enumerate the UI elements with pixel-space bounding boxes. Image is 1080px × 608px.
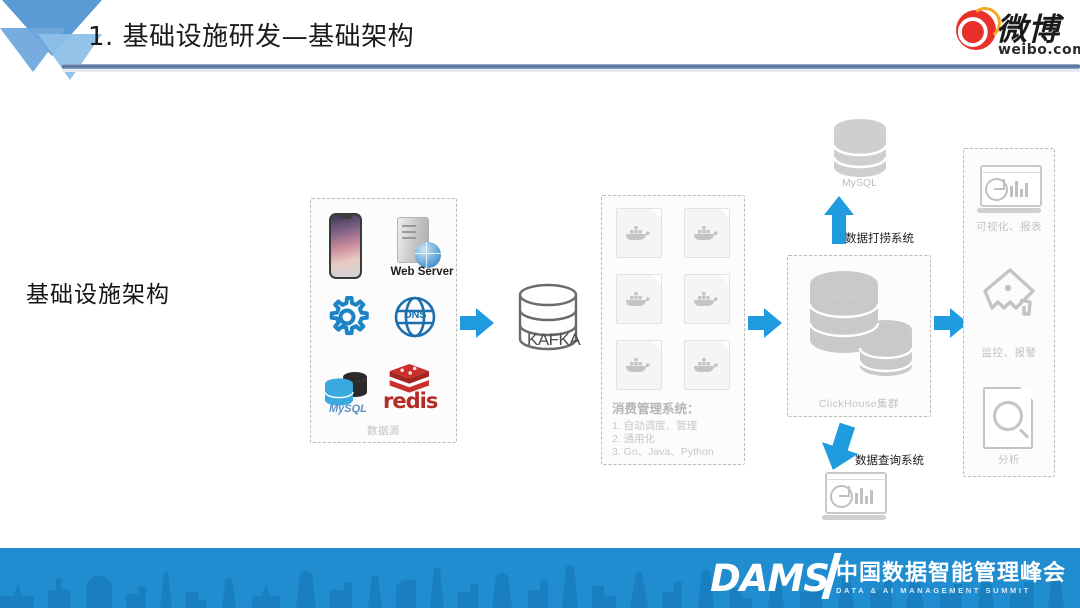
web-server-label: Web Server <box>385 266 459 278</box>
consumer-line-2: 2. 通用化 <box>612 433 714 446</box>
document-magnifier-icon <box>983 387 1035 447</box>
iphone-icon <box>329 213 362 279</box>
database-stack-icon <box>802 266 918 384</box>
kafka-label: KAFKA <box>527 330 580 350</box>
triangle-logo-icon <box>0 0 96 86</box>
docker-whale-icon <box>692 289 722 308</box>
clickhouse-label: ClickHouse集群 <box>788 396 930 411</box>
web-server-icon: Web Server <box>397 217 429 263</box>
weibo-domain: weibo.com <box>998 42 1080 58</box>
docker-whale-icon <box>624 289 654 308</box>
docker-card <box>616 340 662 390</box>
docker-card <box>616 208 662 258</box>
dams-en-subtitle: DATA & AI MANAGEMENT SUMMIT <box>836 586 1066 595</box>
mysql-label: MySQL <box>329 403 367 415</box>
consumer-box: 消费管理系统： 1. 自动调度、管理 2. 通用化 3. Go、Java、Pyt… <box>601 195 745 465</box>
docker-card <box>684 340 730 390</box>
dams-logo: DAMS 中国数据智能管理峰会 DATA & AI MANAGEMENT SUM… <box>710 556 1066 600</box>
arrow-down-icon <box>812 418 869 477</box>
consumer-line-3: 3. Go、Java、Python <box>612 446 714 459</box>
slide-root: 1. 基础设施研发—基础架构 微博 weibo.com 基础设施架构 Web S… <box>0 0 1080 608</box>
globe-icon <box>415 242 441 268</box>
consumer-heading: 消费管理系统： <box>612 398 714 417</box>
consumer-line-1: 1. 自动调度、管理 <box>612 420 714 433</box>
arrow-up-label: 数据打捞系统 <box>845 230 914 246</box>
monitor-alarm-icon <box>980 267 1038 321</box>
arrow-right-icon-2 <box>748 308 782 338</box>
dams-brand: DAMS <box>710 557 829 600</box>
footer-banner: DAMS 中国数据智能管理峰会 DATA & AI MANAGEMENT SUM… <box>0 548 1080 608</box>
weibo-logo: 微博 weibo.com <box>956 4 1064 60</box>
dns-label: DNS <box>393 309 437 321</box>
dams-text: 中国数据智能管理峰会 DATA & AI MANAGEMENT SUMMIT <box>836 562 1066 595</box>
redis-label: redis <box>383 389 437 413</box>
arrow-right-icon-1 <box>460 308 494 338</box>
gear-icon <box>325 295 369 339</box>
left-caption: 基础设施架构 <box>26 275 170 309</box>
docker-whale-icon <box>624 223 654 242</box>
page-title: 1. 基础设施研发—基础架构 <box>88 16 414 53</box>
kafka-icon: KAFKA <box>505 278 591 364</box>
docker-whale-icon <box>692 355 722 374</box>
laptop-chart-icon <box>977 165 1041 213</box>
docker-card <box>684 274 730 324</box>
docker-card <box>684 208 730 258</box>
output-label-monitoring: 监控、报警 <box>964 345 1054 360</box>
dams-cn-title: 中国数据智能管理峰会 <box>836 562 1066 586</box>
output-label-analysis: 分析 <box>964 452 1054 467</box>
arrow-down-label: 数据查询系统 <box>855 452 924 468</box>
mysql-icon: MySQL <box>321 367 377 411</box>
consumer-text: 消费管理系统： 1. 自动调度、管理 2. 通用化 3. Go、Java、Pyt… <box>612 398 714 459</box>
docker-whale-icon <box>692 223 722 242</box>
datasource-box: Web Server DNS <box>310 198 457 443</box>
docker-whale-icon <box>624 355 654 374</box>
dns-globe-icon: DNS <box>393 295 437 339</box>
outputs-box: 可视化、报表 监控、报警 分析 <box>963 148 1055 477</box>
redis-icon: redis <box>387 363 443 411</box>
output-label-visualization: 可视化、报表 <box>964 219 1054 234</box>
datasource-label: 数据源 <box>311 423 456 438</box>
mysql-sink-icon: MySQL <box>820 115 900 195</box>
mysql-sink-label: MySQL <box>842 177 877 189</box>
title-divider <box>62 64 1080 69</box>
weibo-eye-icon <box>956 10 996 50</box>
query-laptop-chart-icon <box>822 472 886 520</box>
clickhouse-box: ClickHouse集群 <box>787 255 931 417</box>
docker-card <box>616 274 662 324</box>
